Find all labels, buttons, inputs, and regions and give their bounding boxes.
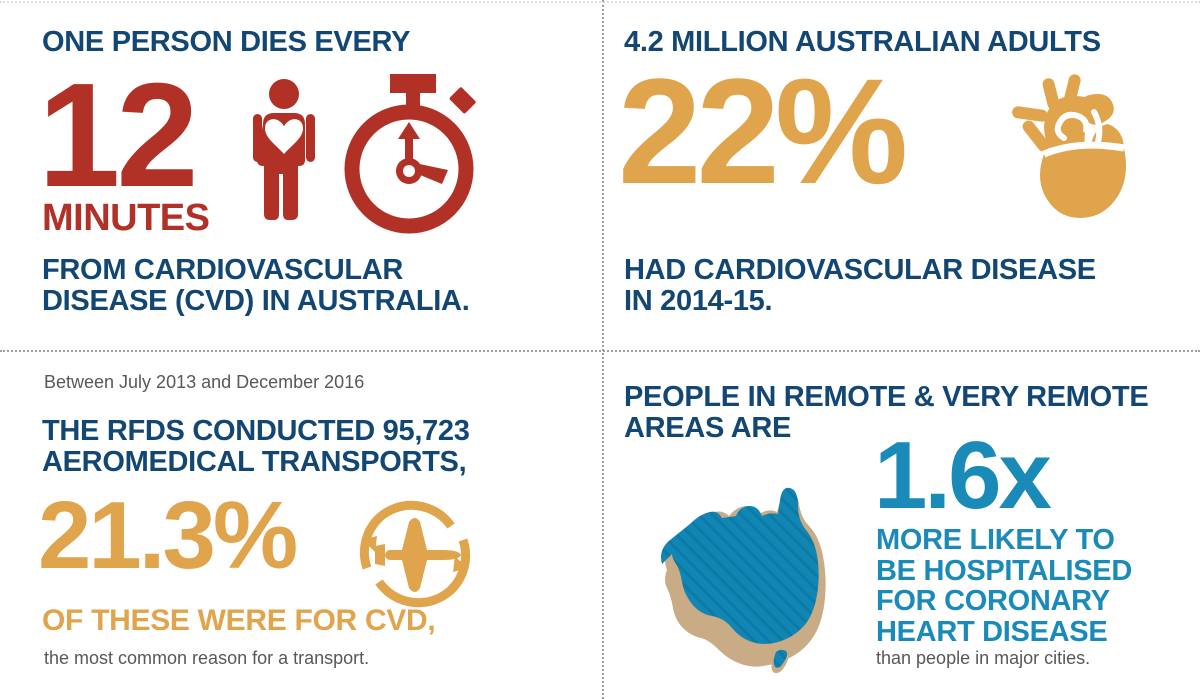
top-right-stat-number: 22% [618, 62, 903, 200]
plane-cycle-icon [345, 500, 485, 608]
bottom-right-caption: than people in major cities. [876, 648, 1090, 670]
bottom-right-subtext: MORE LIKELY TO BE HOSPITALISED FOR CORON… [876, 525, 1132, 648]
panel-bottom-left [0, 0, 602, 699]
top-right-subtext: HAD CARDIOVASCULAR DISEASE IN 2014-15. [624, 255, 1096, 318]
bottom-left-caption: the most common reason for a transport. [44, 648, 369, 670]
bottom-left-stat-number: 21.3% [38, 488, 295, 584]
panel-top-right: 4.2 MILLION AUSTRALIAN ADULTS 22% HAD CA… [604, 0, 1200, 350]
bottom-left-subtext: OF THESE WERE FOR CVD, [42, 604, 435, 638]
bottom-right-stat-number: 1.6x [874, 428, 1049, 524]
australia-map-icon [634, 452, 884, 692]
panel-bottom-right: PEOPLE IN REMOTE & VERY REMOTE AREAS ARE… [604, 352, 1200, 699]
bottom-left-pretext: Between July 2013 and December 2016 [44, 372, 364, 394]
bottom-left-headline: THE RFDS CONDUCTED 95,723 AEROMEDICAL TR… [42, 416, 470, 479]
anatomical-heart-icon [990, 72, 1148, 218]
infographic-canvas: ONE PERSON DIES EVERY 12 MINUTES [0, 0, 1200, 699]
